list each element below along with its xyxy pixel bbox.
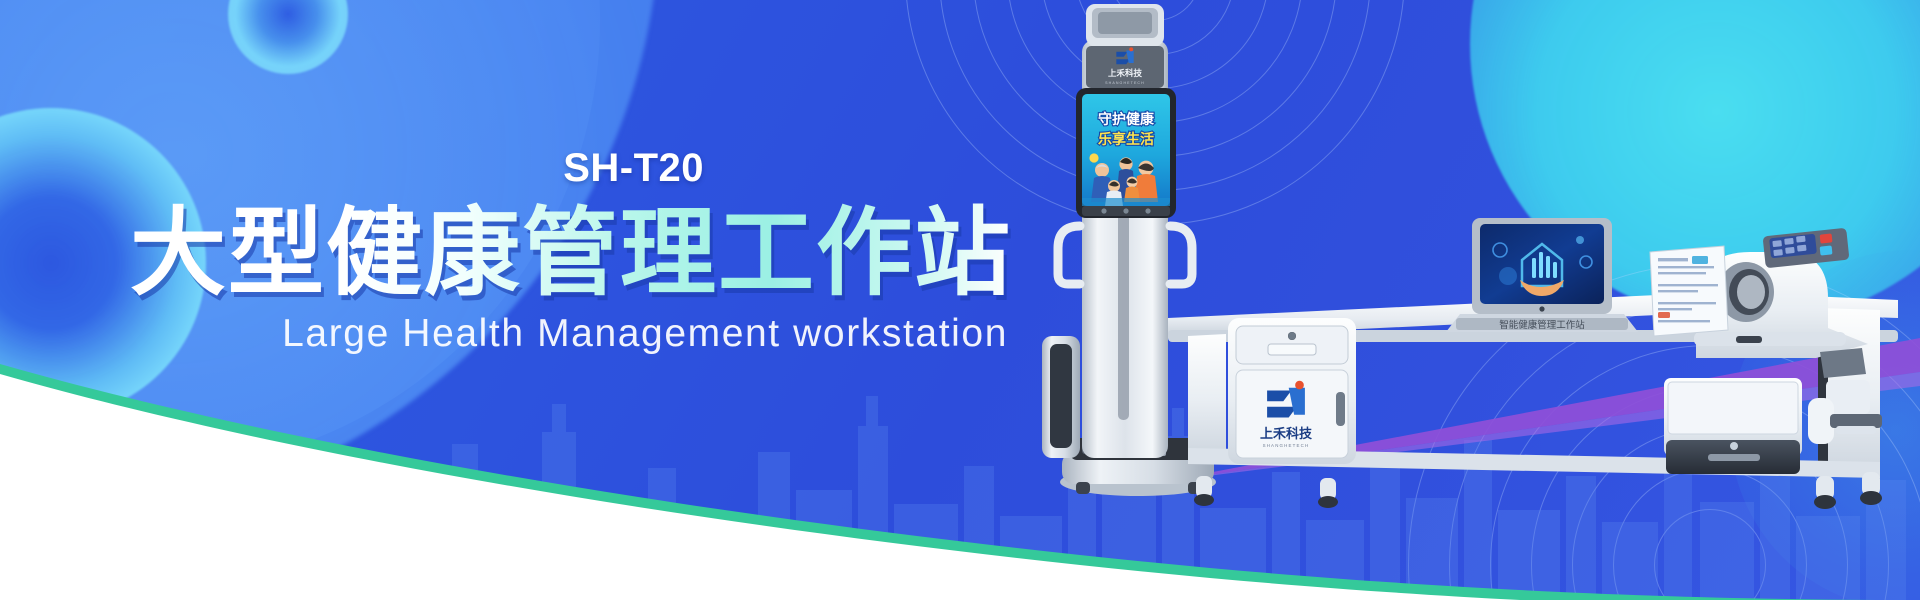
kiosk-brand-name-cn: 上禾科技 xyxy=(1108,68,1143,78)
laptop-label: 智能健康管理工作站 xyxy=(1499,319,1585,331)
ad-display-screen: 守护健康 乐享生活 xyxy=(1076,88,1176,218)
cabinet-brand-name-cn: 上禾科技 xyxy=(1260,426,1313,441)
ad-headline-line2: 乐享生活 xyxy=(1098,131,1154,147)
bp-control-panel xyxy=(1763,228,1850,269)
kiosk-brand-plate: 上禾科技 SHANGHETECH xyxy=(1086,46,1164,88)
report-printer-cabinet: 上禾科技 SHANGHETECH xyxy=(1228,318,1356,464)
kiosk-brand-name-en: SHANGHETECH xyxy=(1105,81,1145,85)
laptop-terminal: 智能健康管理工作站 xyxy=(1446,218,1638,332)
side-printer-box xyxy=(1664,378,1802,474)
product-hero-banner: 上禾科技 SHANGHETECH 守护健康 乐享生活 xyxy=(0,0,1920,600)
product-photo: 上禾科技 SHANGHETECH 守护健康 乐享生活 xyxy=(1020,0,1920,600)
cabinet-brand-name-en: SHANGHETECH xyxy=(1263,443,1310,448)
ad-headline-line1: 守护健康 xyxy=(1098,111,1155,127)
report-sheet xyxy=(1650,246,1728,336)
